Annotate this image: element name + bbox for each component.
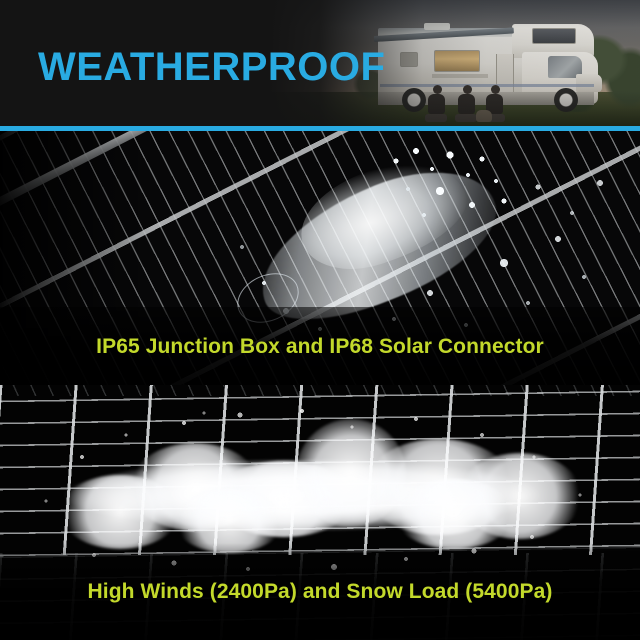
page-title: WEATHERPROOF: [38, 47, 385, 87]
header-section: WEATHERPROOF: [0, 0, 640, 126]
rain-section-caption: IP65 Junction Box and IP68 Solar Connect…: [0, 335, 640, 359]
snow-section-caption: High Winds (2400Pa) and Snow Load (5400P…: [0, 580, 640, 604]
weatherproof-feature-banner: WEATHERPROOF IP65 Junction Box and IP68 …: [0, 0, 640, 640]
